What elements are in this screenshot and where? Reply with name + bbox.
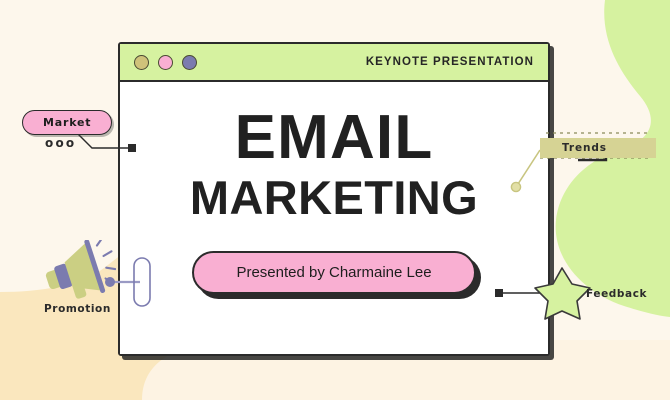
market-tag[interactable]: Market xyxy=(22,110,112,135)
feedback-label: Feedback xyxy=(586,288,647,300)
trends-tag-label: Trends xyxy=(562,142,607,154)
connector-feedback-dot xyxy=(495,289,503,297)
star-icon xyxy=(535,268,590,319)
connector-trends xyxy=(518,150,540,184)
megaphone-icon xyxy=(44,240,116,302)
poster-canvas: Market ooo Trends Promotion Feedback KEY… xyxy=(0,0,670,400)
trends-tag[interactable]: Trends xyxy=(540,138,656,158)
promotion-label: Promotion xyxy=(44,303,111,315)
gear-icon xyxy=(511,182,520,191)
market-tag-label: Market xyxy=(43,116,91,129)
connector-market-dot xyxy=(128,144,136,152)
market-dots-label: ooo xyxy=(45,136,76,150)
connector-lines xyxy=(0,0,670,400)
